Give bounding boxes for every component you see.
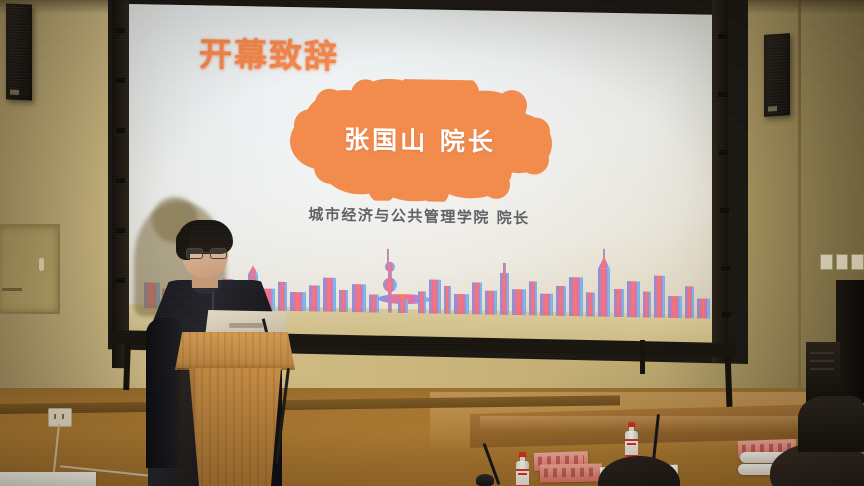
wall-outlet: [48, 408, 72, 427]
wall-switches: [820, 254, 864, 270]
slide-title: 开幕致辞: [199, 27, 339, 78]
amplifier-unit: [806, 342, 840, 404]
name-card: [540, 463, 602, 482]
slide-cloud-shape: 张国山 院长: [286, 77, 554, 204]
screen-support-leg: [640, 340, 645, 374]
panel-handle: [39, 258, 44, 271]
audience-shoulder: [798, 396, 864, 452]
glasses-icon: [186, 248, 226, 257]
slide-speaker-name: 张国山 院长: [286, 119, 554, 160]
open-document: [0, 472, 96, 486]
screen-border-left: [112, 0, 129, 368]
podium-body: [185, 368, 285, 486]
microphone-base: [476, 474, 494, 486]
podium-shadow: [177, 368, 199, 486]
wall-corner: [798, 0, 801, 430]
screen-border-right: [712, 0, 728, 362]
left-wall-speaker-icon: [6, 3, 32, 100]
wall-access-panel: [0, 224, 60, 314]
podium-top: [175, 332, 295, 370]
panel-slot: [2, 288, 22, 291]
right-wall-speaker-icon: [764, 33, 790, 117]
av-equipment-rack: [836, 280, 864, 410]
photo-scene: 开幕致辞: [0, 0, 864, 486]
water-bottle: [516, 452, 529, 486]
